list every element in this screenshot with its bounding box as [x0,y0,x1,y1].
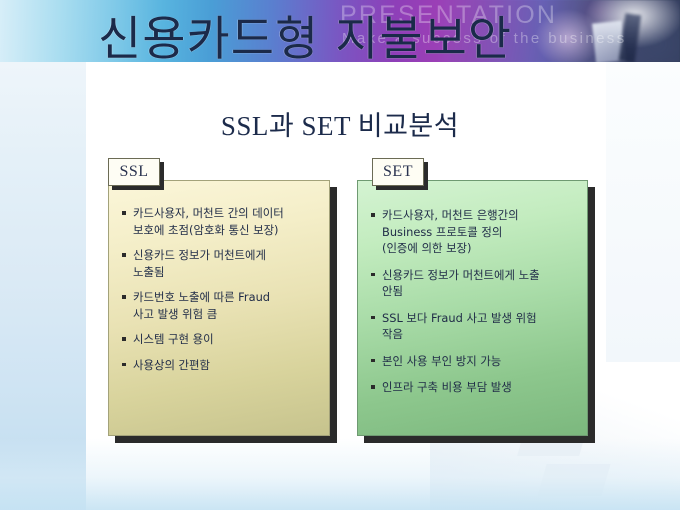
background-bottom-wash [0,438,680,510]
list-item: 카드사용자, 머천트 은행간의 Business 프로토콜 정의 (인증에 의한… [370,207,577,257]
list-item: SSL 보다 Fraud 사고 발생 위험 작음 [370,310,577,343]
presentation-slide: PRESENTATION Make a success of the busin… [0,0,680,510]
list-item: 사용상의 간편함 [121,357,319,374]
list-item: 카드사용자, 머천트 간의 데이터 보호에 초점(암호화 통신 보장) [121,205,319,238]
ssl-comparison-box: 카드사용자, 머천트 간의 데이터 보호에 초점(암호화 통신 보장) 신용카드… [108,180,330,436]
list-item: 시스템 구현 용이 [121,331,319,348]
ssl-box-tab: SSL [108,158,160,186]
ssl-bullet-list: 카드사용자, 머천트 간의 데이터 보호에 초점(암호화 통신 보장) 신용카드… [109,181,329,382]
set-box-tab: SET [372,158,424,186]
page-title: 신용카드형 지불보안 [98,16,512,63]
list-item: 인프라 구축 비용 부담 발생 [370,379,577,396]
list-item: 카드번호 노출에 따른 Fraud 사고 발생 위험 큼 [121,289,319,322]
set-comparison-box: 카드사용자, 머천트 은행간의 Business 프로토콜 정의 (인증에 의한… [357,180,588,436]
set-bullet-list: 카드사용자, 머천트 은행간의 Business 프로토콜 정의 (인증에 의한… [358,181,587,406]
list-item: 본인 사용 부인 방지 가능 [370,353,577,370]
list-item: 신용카드 정보가 머천트에게 노출 안됨 [370,267,577,300]
slide-subtitle: SSL과 SET 비교분석 [0,104,680,143]
list-item: 신용카드 정보가 머천트에게 노출됨 [121,247,319,280]
